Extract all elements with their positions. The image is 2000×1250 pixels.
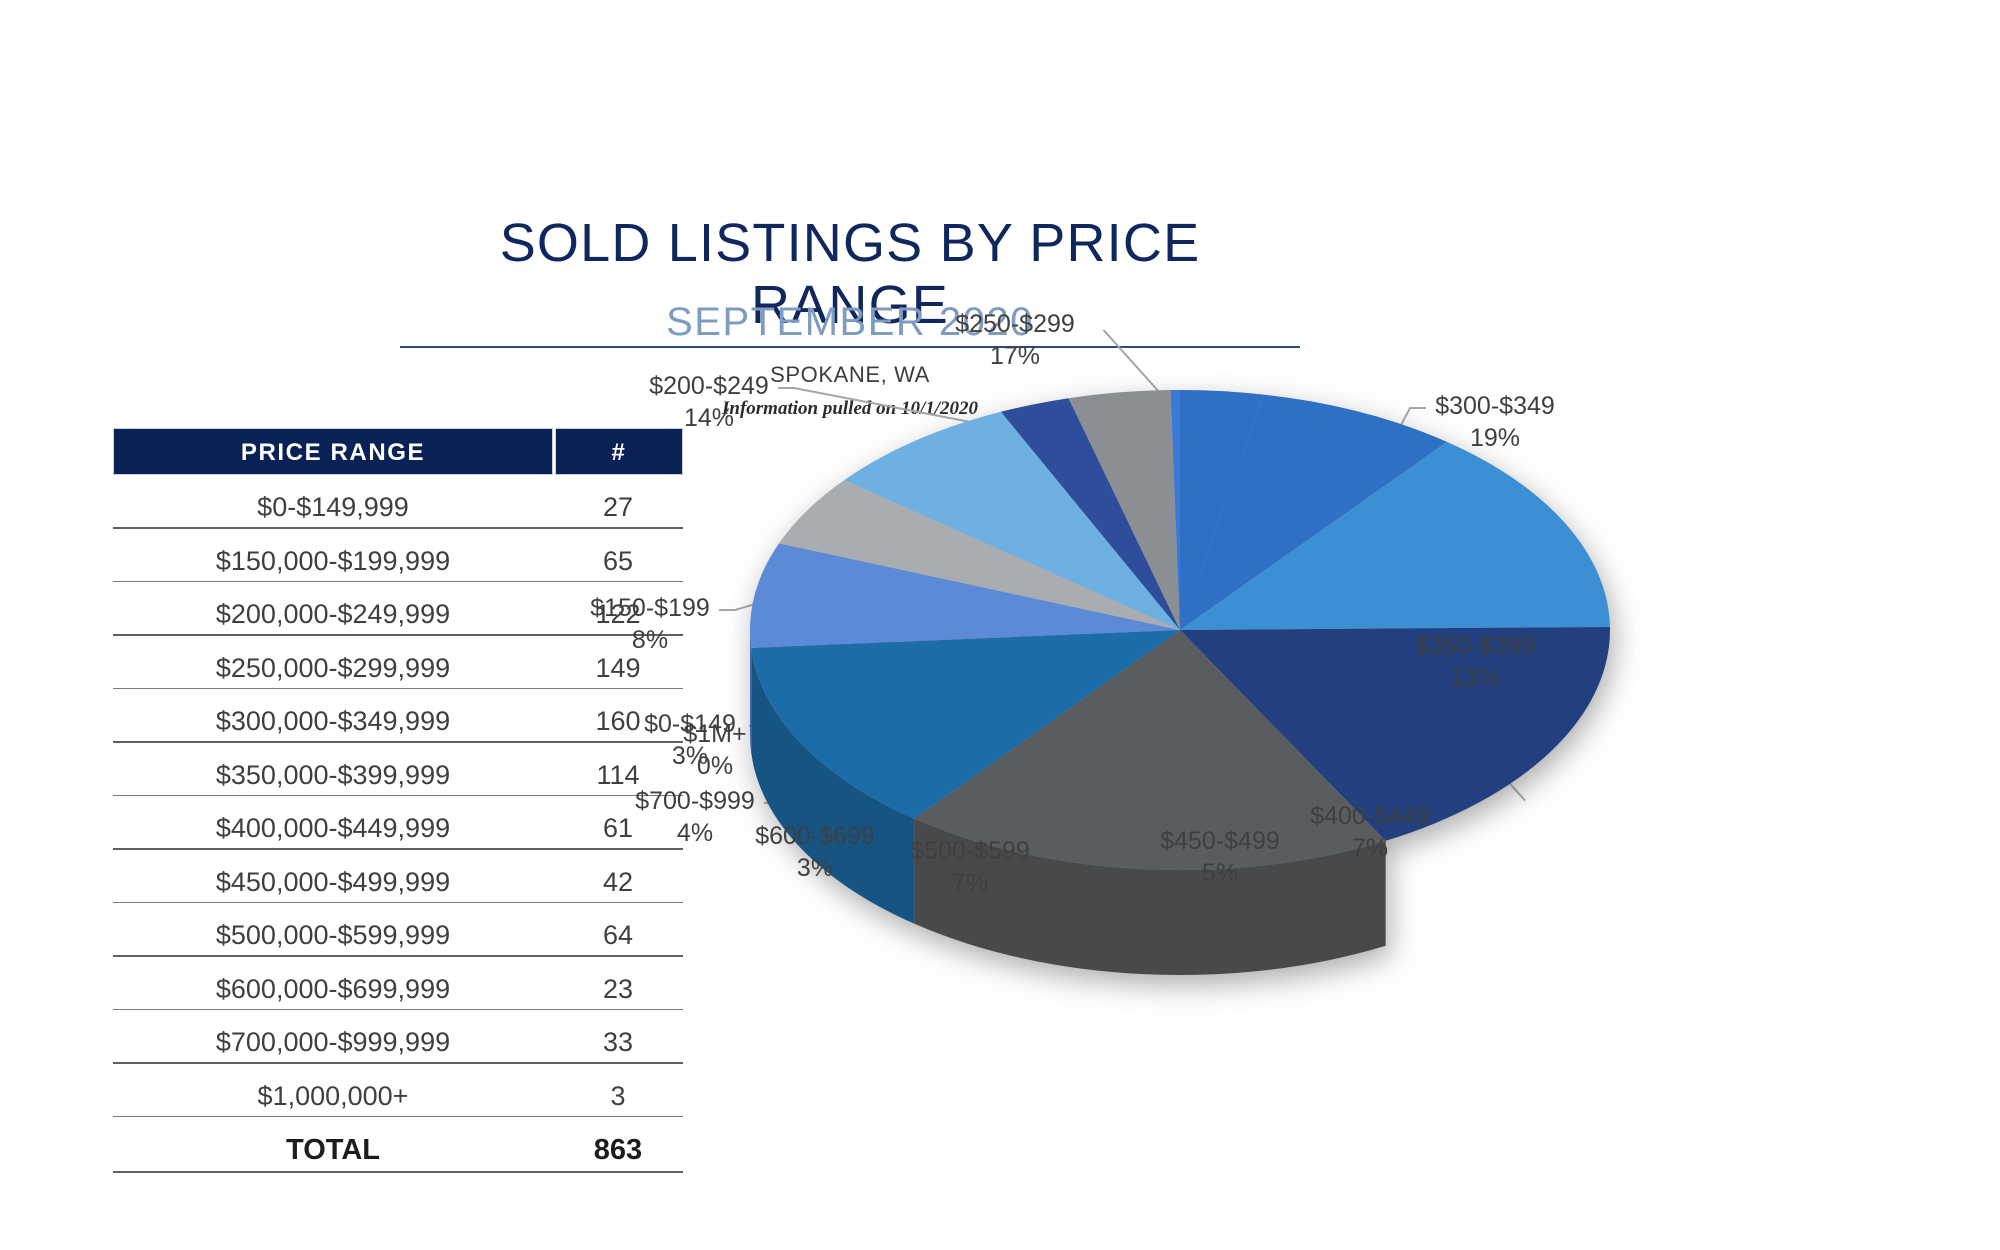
pie-label-percent: 0% xyxy=(660,750,770,782)
table-row: $300,000-$349,999160 xyxy=(113,689,683,741)
pie-label-name: $500-$599 xyxy=(895,835,1045,867)
pie-label-6: $400-$4497% xyxy=(1295,800,1445,864)
table-row: TOTAL863 xyxy=(113,1117,683,1171)
pie-label-4: $300-$34919% xyxy=(1420,390,1570,454)
pie-label-percent: 7% xyxy=(895,867,1045,899)
pie-label-2: $200-$24914% xyxy=(634,370,784,434)
cell-price-range: $450,000-$499,999 xyxy=(113,860,553,902)
pie-label-percent: 19% xyxy=(1420,422,1570,454)
pie-label-name: $400-$449 xyxy=(1295,800,1445,832)
cell-price-range: $150,000-$199,999 xyxy=(113,539,553,581)
pie-label-10: $700-$9994% xyxy=(620,785,770,849)
cell-price-range: $500,000-$599,999 xyxy=(113,913,553,955)
table-row: $350,000-$399,999114 xyxy=(113,743,683,795)
table-body: $0-$149,99927$150,000-$199,99965$200,000… xyxy=(113,475,683,1173)
pie-label-3: $250-$29917% xyxy=(940,308,1090,372)
table-row: $400,000-$449,99961 xyxy=(113,796,683,848)
table-row: $600,000-$699,99923 xyxy=(113,957,683,1009)
pie-chart: $0-$1493%$150-$1998%$200-$24914%$250-$29… xyxy=(640,330,1990,1115)
cell-price-range: $250,000-$299,999 xyxy=(113,646,553,688)
pie-label-name: $1M+ xyxy=(660,718,770,750)
pie-label-percent: 13% xyxy=(1400,662,1550,694)
table-header-row: PRICE RANGE # xyxy=(113,428,683,475)
cell-count: 863 xyxy=(553,1117,683,1171)
column-header-price-range: PRICE RANGE xyxy=(113,428,553,475)
cell-price-range: $300,000-$349,999 xyxy=(113,699,553,741)
pie-label-percent: 7% xyxy=(1295,832,1445,864)
pie-label-percent: 4% xyxy=(620,817,770,849)
pie-label-name: $150-$199 xyxy=(575,592,725,624)
cell-price-range: $1,000,000+ xyxy=(113,1074,553,1116)
pie-label-name: $350-$399 xyxy=(1400,630,1550,662)
slide-canvas: SOLD LISTINGS BY PRICE RANGE SEPTEMBER 2… xyxy=(0,0,2000,1250)
row-divider xyxy=(113,1171,683,1173)
table-row: $450,000-$499,99942 xyxy=(113,850,683,902)
cell-price-range: $600,000-$699,999 xyxy=(113,967,553,1009)
pie-label-percent: 14% xyxy=(634,402,784,434)
pie-label-1: $150-$1998% xyxy=(575,592,725,656)
pie-label-11: $1M+0% xyxy=(660,718,770,782)
pie-label-5: $350-$39913% xyxy=(1400,630,1550,694)
table-row: $500,000-$599,99964 xyxy=(113,903,683,955)
table-row: $0-$149,99927 xyxy=(113,475,683,527)
cell-price-range: $700,000-$999,999 xyxy=(113,1020,553,1062)
cell-price-range: $0-$149,999 xyxy=(113,485,553,527)
pie-label-percent: 3% xyxy=(740,852,890,884)
table-row: $150,000-$199,99965 xyxy=(113,529,683,581)
price-range-table: PRICE RANGE # $0-$149,99927$150,000-$199… xyxy=(113,428,683,1173)
pie-label-name: $300-$349 xyxy=(1420,390,1570,422)
cell-price-range: $350,000-$399,999 xyxy=(113,753,553,795)
cell-price-range: $400,000-$449,999 xyxy=(113,806,553,848)
pie-label-8: $500-$5997% xyxy=(895,835,1045,899)
pie-label-name: $250-$299 xyxy=(940,308,1090,340)
pie-label-7: $450-$4995% xyxy=(1145,825,1295,889)
table-row: $1,000,000+3 xyxy=(113,1064,683,1116)
pie-chart-svg xyxy=(640,330,1990,1110)
table-row: $700,000-$999,99933 xyxy=(113,1010,683,1062)
pie-label-percent: 17% xyxy=(940,340,1090,372)
pie-label-percent: 5% xyxy=(1145,857,1295,889)
pie-label-name: $450-$499 xyxy=(1145,825,1295,857)
pie-label-name: $200-$249 xyxy=(634,370,784,402)
cell-price-range: $200,000-$249,999 xyxy=(113,592,553,634)
cell-price-range: TOTAL xyxy=(113,1127,553,1171)
pie-label-percent: 8% xyxy=(575,624,725,656)
pie-label-name: $700-$999 xyxy=(620,785,770,817)
